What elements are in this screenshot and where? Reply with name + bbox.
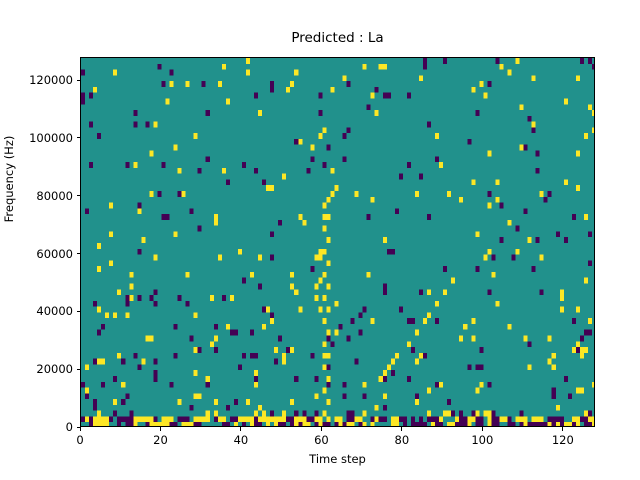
y-tick-label: 40000 — [0, 304, 73, 318]
heatmap-image — [81, 58, 595, 427]
x-tick-mark — [401, 427, 402, 431]
y-tick-mark — [77, 253, 81, 254]
heatmap-axes — [80, 57, 595, 427]
y-tick-mark — [77, 427, 81, 428]
x-tick-mark — [482, 427, 483, 431]
x-tick-mark — [240, 427, 241, 431]
x-tick-mark — [160, 427, 161, 431]
x-axis-label: Time step — [80, 452, 595, 466]
x-tick-mark — [562, 427, 563, 431]
x-tick-mark — [80, 427, 81, 431]
x-tick-label: 40 — [211, 433, 271, 447]
x-tick-label: 120 — [533, 433, 593, 447]
x-tick-label: 80 — [372, 433, 432, 447]
y-tick-mark — [77, 369, 81, 370]
y-tick-label: 120000 — [0, 73, 73, 87]
page-title: Predicted : La — [80, 30, 595, 46]
x-tick-label: 0 — [50, 433, 110, 447]
x-tick-mark — [321, 427, 322, 431]
y-tick-label: 0 — [0, 420, 73, 434]
y-tick-mark — [77, 195, 81, 196]
x-tick-label: 100 — [452, 433, 512, 447]
y-tick-label: 20000 — [0, 362, 73, 376]
y-tick-mark — [77, 80, 81, 81]
y-tick-mark — [77, 137, 81, 138]
x-tick-label: 60 — [291, 433, 351, 447]
y-axis-label: Frequency (Hz) — [2, 109, 16, 249]
x-tick-label: 20 — [130, 433, 190, 447]
y-tick-mark — [77, 311, 81, 312]
matplotlib-figure: Predicted : La 0204060801001200200004000… — [0, 0, 640, 480]
